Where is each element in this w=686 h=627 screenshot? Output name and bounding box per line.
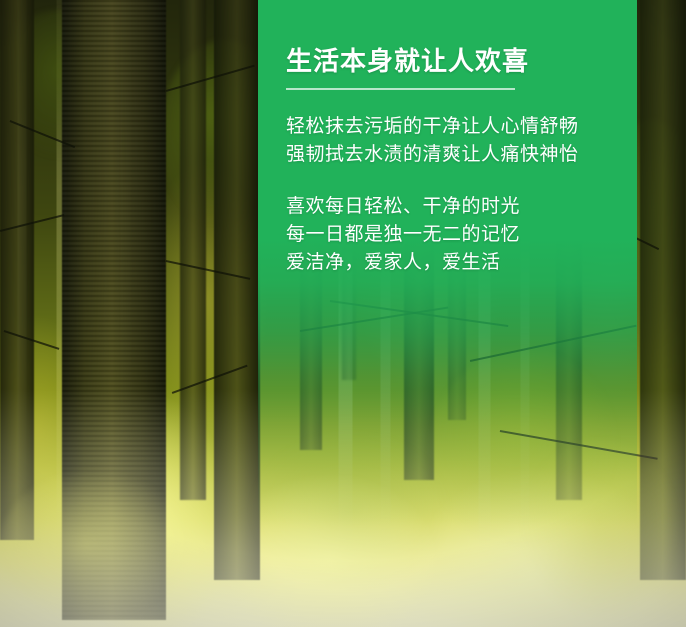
paragraph-benefits: 轻松抹去污垢的干净让人心情舒畅 强韧拭去水渍的清爽让人痛快神怡 [286,112,579,168]
page-title: 生活本身就让人欢喜 [286,45,529,79]
lifestyle-line-3: 爱洁净，爱家人，爱生活 [286,248,520,276]
lifestyle-line-2: 每一日都是独一无二的记忆 [286,220,520,248]
promo-banner: 生活本身就让人欢喜 轻松抹去污垢的干净让人心情舒畅 强韧拭去水渍的清爽让人痛快神… [0,0,686,627]
title-divider [286,88,515,90]
text-content-block: 生活本身就让人欢喜 轻松抹去污垢的干净让人心情舒畅 强韧拭去水渍的清爽让人痛快神… [286,0,646,627]
paragraph-lifestyle: 喜欢每日轻松、干净的时光 每一日都是独一无二的记忆 爱洁净，爱家人，爱生活 [286,192,520,276]
lifestyle-line-1: 喜欢每日轻松、干净的时光 [286,192,520,220]
benefit-line-1: 轻松抹去污垢的干净让人心情舒畅 [286,112,579,140]
benefit-line-2: 强韧拭去水渍的清爽让人痛快神怡 [286,140,579,168]
